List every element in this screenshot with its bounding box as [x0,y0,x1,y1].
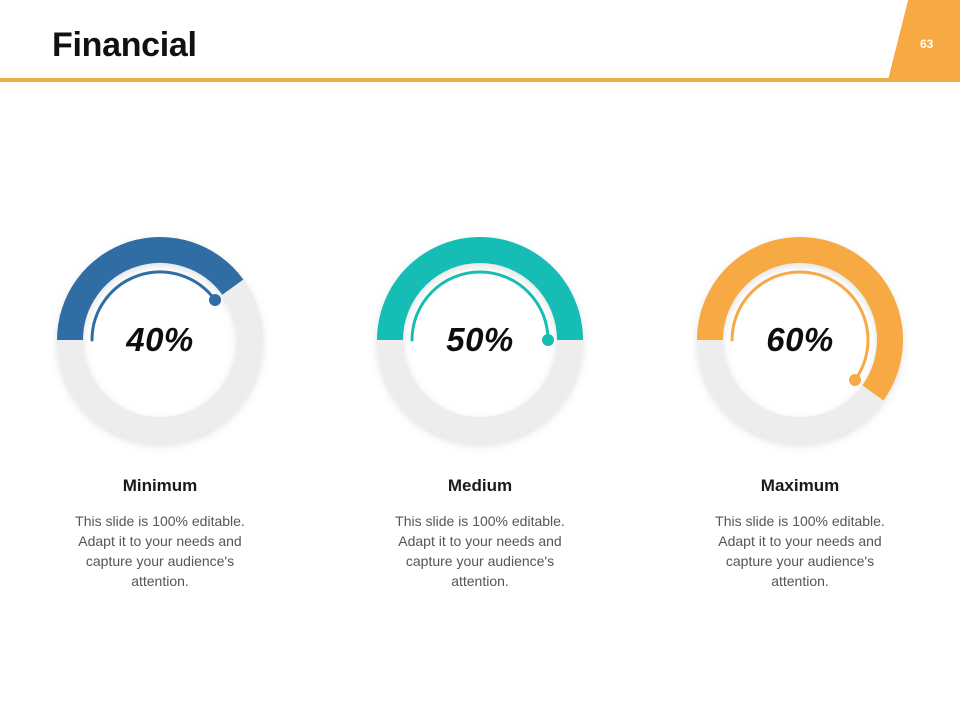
gauge-label: Maximum [761,475,839,497]
gauge-indicator-dot [209,294,221,306]
title-underline-rule [0,78,960,82]
gauge-card: 60%MaximumThis slide is 100% editable. A… [640,215,960,591]
gauge-description: This slide is 100% editable. Adapt it to… [66,511,254,591]
gauge-description: This slide is 100% editable. Adapt it to… [706,511,894,591]
gauge-indicator-arc [92,272,215,340]
page-number-badge: 63 [888,0,960,80]
gauge-group: 40%MinimumThis slide is 100% editable. A… [0,215,960,615]
gauge-label: Minimum [123,475,198,497]
gauge-arc-graphic [675,215,925,465]
gauge-indicator-arc [412,272,548,340]
gauge-card: 40%MinimumThis slide is 100% editable. A… [0,215,320,591]
slide-canvas: Financial 63 40%MinimumThis slide is 100… [0,0,960,720]
gauge-card: 50%MediumThis slide is 100% editable. Ad… [320,215,640,591]
slide-header: Financial 63 [0,0,960,84]
gauge-value-arc [390,250,570,340]
gauge-description: This slide is 100% editable. Adapt it to… [386,511,574,591]
gauge-arc-graphic [35,215,285,465]
gauge-figure[interactable]: 60% [675,215,925,465]
gauge-indicator-dot [849,374,861,386]
gauge-indicator-dot [542,334,554,346]
gauge-figure[interactable]: 50% [355,215,605,465]
page-number-label: 63 [920,38,933,50]
page-title: Financial [52,24,197,66]
gauge-arc-graphic [355,215,605,465]
gauge-figure[interactable]: 40% [35,215,285,465]
gauge-label: Medium [448,475,512,497]
gauge-indicator-arc [732,272,868,380]
